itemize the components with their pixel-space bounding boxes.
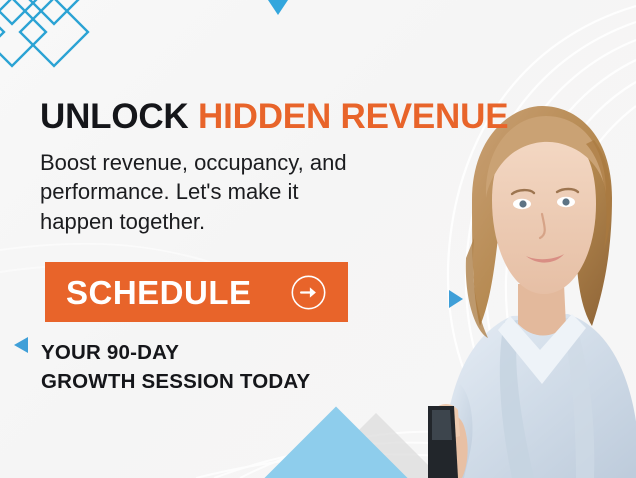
blue-triangle-down-icon [268,0,288,15]
subcopy-line-1: Boost revenue, occupancy, and [40,148,460,177]
tagline: YOUR 90-DAY GROWTH SESSION TODAY [41,338,310,396]
blue-triangle-right-icon [449,290,463,308]
schedule-button[interactable]: SCHEDULE [45,262,348,322]
headline-accent: HIDDEN REVENUE [198,97,508,136]
tagline-line-2: GROWTH SESSION TODAY [41,367,310,396]
schedule-button-label: SCHEDULE [66,276,252,309]
blue-triangle-left-icon [14,337,28,353]
arrow-right-circle-icon [290,274,327,311]
subcopy: Boost revenue, occupancy, and performanc… [40,148,460,236]
subcopy-line-3: happen together. [40,207,460,236]
background-base [0,0,636,478]
subcopy-line-2: performance. Let's make it [40,177,460,206]
headline-lead: UNLOCK [40,97,189,136]
tagline-line-1: YOUR 90-DAY [41,338,310,367]
page-title: UNLOCK HIDDEN REVENUE [40,99,508,134]
promo-banner: UNLOCK HIDDEN REVENUE Boost revenue, occ… [0,0,636,478]
